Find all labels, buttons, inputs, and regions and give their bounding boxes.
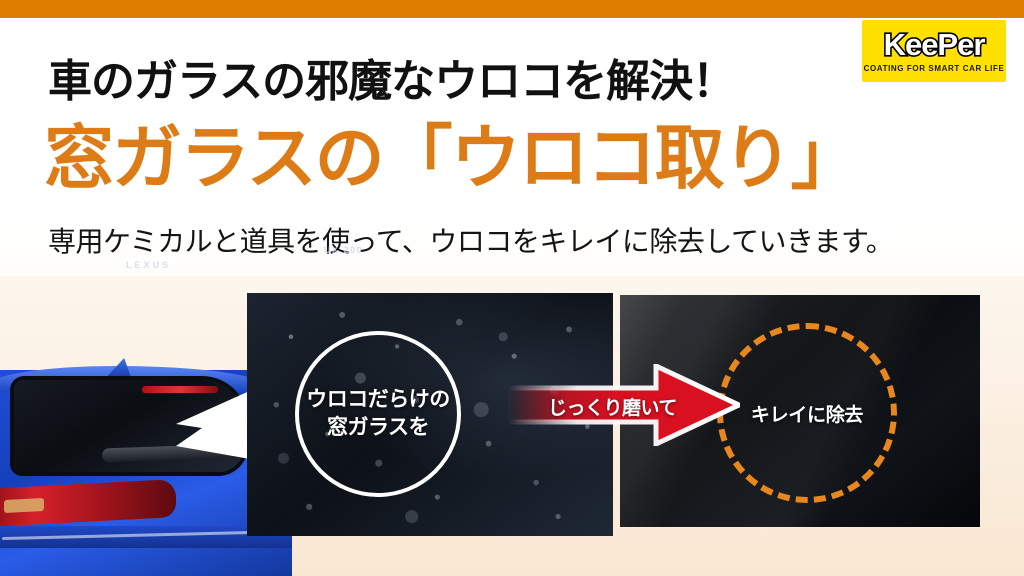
car-tail-light-lens <box>4 498 44 513</box>
top-accent-bar <box>0 0 1024 18</box>
page-title: 窓ガラスの「ウロコ取り」 <box>44 123 859 193</box>
car-model-badge: UX 200 <box>324 245 363 255</box>
before-caption-circle: ウロコだらけの 窓ガラスを <box>295 331 461 497</box>
slide-canvas: KeePer COATING FOR SMART CAR LIFE 車のガラスの… <box>0 0 1024 576</box>
headline-subtitle: 専用ケミカルと道具を使って、ウロコをキレイに除去していきます。 <box>48 228 893 256</box>
car-brand-badge: LEXUS <box>126 260 171 270</box>
process-arrow-label: じっくり磨いて <box>548 393 688 420</box>
callout-pointer <box>176 388 256 460</box>
keeper-logo-tagline: COATING FOR SMART CAR LIFE <box>864 64 1005 73</box>
keeper-logo: KeePer COATING FOR SMART CAR LIFE <box>862 20 1006 82</box>
before-caption-line-2: 窓ガラスを <box>327 414 429 442</box>
after-caption-text: キレイに除去 <box>751 400 863 427</box>
keeper-logo-wordmark: KeePer <box>884 29 985 60</box>
before-caption-line-1: ウロコだらけの <box>306 386 450 414</box>
after-caption-circle: キレイに除去 <box>717 323 897 503</box>
process-arrow: じっくり磨いて <box>508 364 740 446</box>
headline-kicker: 車のガラスの邪魔なウロコを解決！ <box>48 60 735 104</box>
